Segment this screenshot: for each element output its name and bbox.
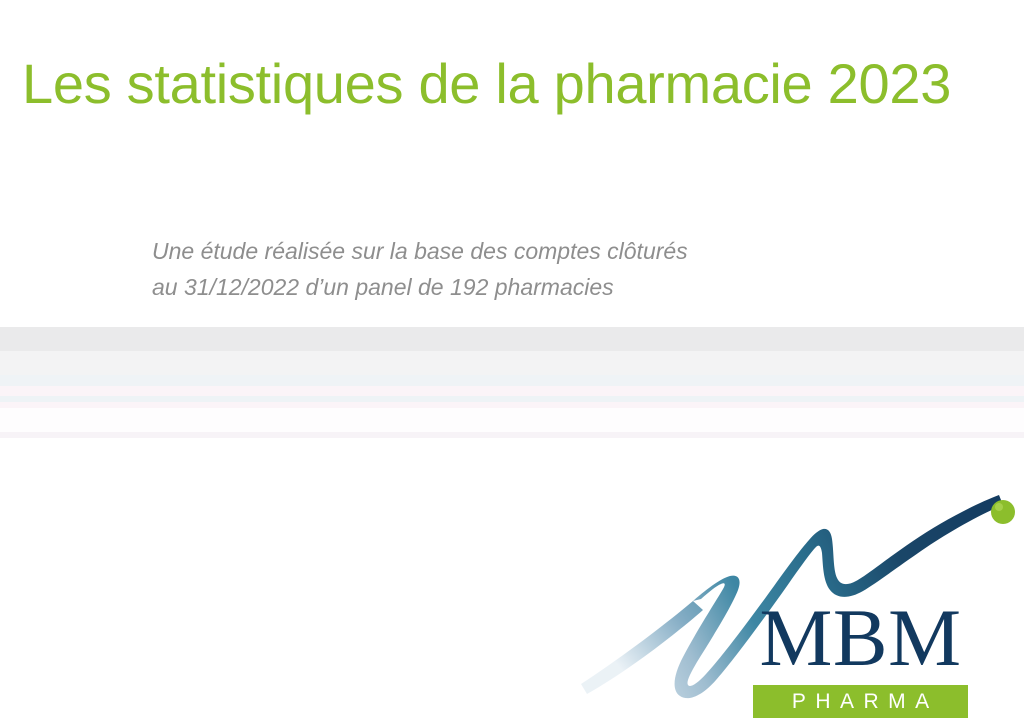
green-dot-icon xyxy=(991,500,1015,524)
band-white xyxy=(0,408,1024,432)
slide-subtitle-line-2: au 31/12/2022 d’un panel de 192 pharmaci… xyxy=(152,269,912,305)
decorative-band-strip xyxy=(0,327,1024,438)
logo-wordmark: MBM PHARMA xyxy=(753,598,968,718)
band-pink-3 xyxy=(0,432,1024,438)
mbm-pharma-logo: MBM PHARMA xyxy=(575,486,1024,716)
band-pink-1 xyxy=(0,386,1024,396)
logo-mbm-text: MBM xyxy=(753,598,968,678)
band-blue-1 xyxy=(0,375,1024,386)
page-title: Les statistiques de la pharmacie 2023 xyxy=(22,52,982,116)
band-gray-dark xyxy=(0,327,1024,351)
band-gray-light xyxy=(0,351,1024,375)
logo-pharma-text: PHARMA xyxy=(782,691,938,712)
logo-pharma-bar: PHARMA xyxy=(753,685,968,718)
slide-subtitle: Une étude réalisée sur la base des compt… xyxy=(152,233,912,305)
slide-subtitle-line-1: Une étude réalisée sur la base des compt… xyxy=(152,233,912,269)
slide-canvas: Les statistiques de la pharmacie 2023 Un… xyxy=(0,0,1024,720)
